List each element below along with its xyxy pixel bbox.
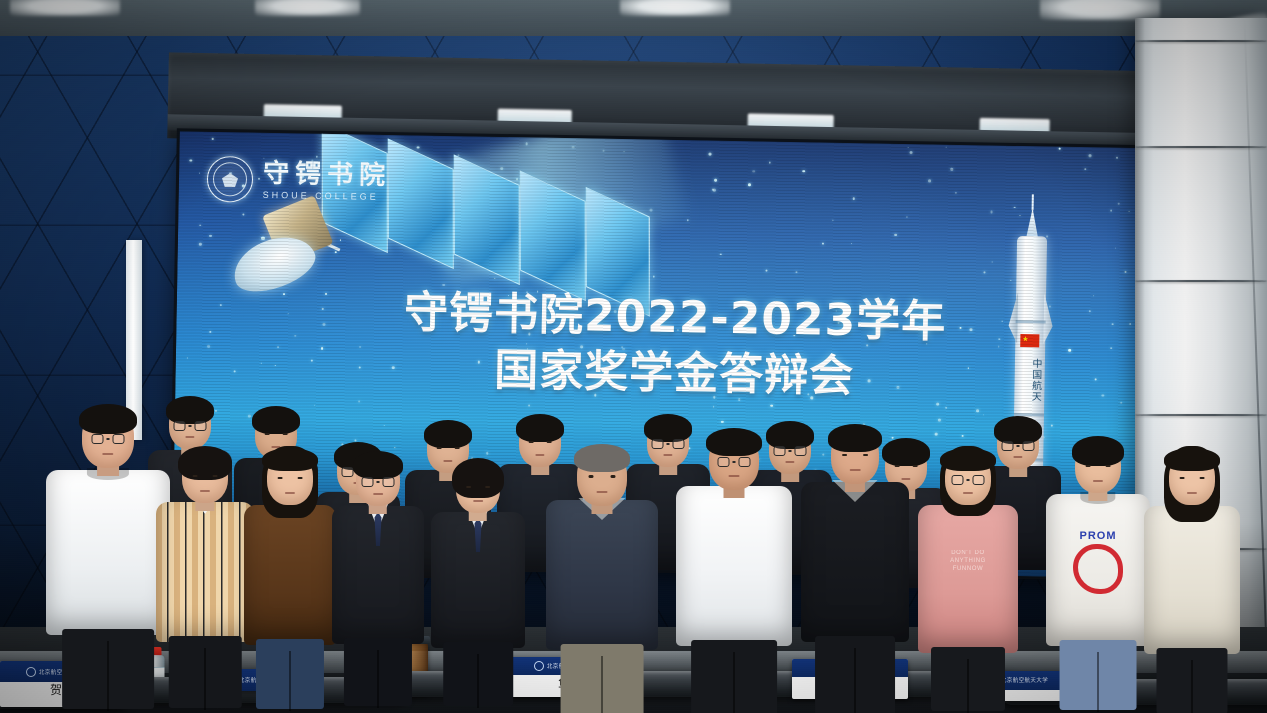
person-torso — [1144, 506, 1240, 654]
person-hair — [452, 458, 504, 498]
person — [1144, 438, 1240, 713]
ceiling-light — [1040, 0, 1160, 20]
person — [676, 418, 792, 713]
person — [801, 414, 909, 713]
photograph-canvas: ★ 中国航天 守锷书院 SHOUE COLLEGE 守锷书院2022-2023学… — [0, 0, 1267, 713]
person-torso — [918, 505, 1018, 653]
person: DON'T DO ANYTHING FUNNOW — [918, 438, 1018, 713]
leg-split — [967, 659, 969, 713]
person-hair — [252, 406, 300, 434]
glasses-bridge — [189, 425, 192, 426]
mouth — [102, 453, 113, 455]
ceiling-light — [255, 0, 360, 16]
glasses-bridge — [967, 479, 970, 480]
person-hair-front — [940, 448, 996, 471]
eyeglasses — [362, 477, 395, 487]
column-seam — [1135, 280, 1267, 282]
eyes — [589, 475, 616, 478]
glasses-bridge — [377, 481, 380, 482]
person — [46, 394, 170, 713]
lens-left — [362, 477, 374, 487]
person-hair — [166, 396, 214, 424]
person-hair — [828, 424, 882, 452]
leg-split — [477, 654, 479, 708]
mouth — [729, 475, 740, 477]
apparel-print: PROM — [1067, 530, 1129, 542]
eyes — [842, 454, 868, 457]
leg-split — [601, 656, 603, 713]
person-hair — [1072, 436, 1124, 466]
lens-right — [113, 434, 125, 444]
person — [332, 441, 424, 713]
university-seal-icon — [26, 667, 36, 677]
leg-split — [1191, 660, 1193, 713]
lens-left — [92, 434, 104, 444]
mouth — [535, 454, 544, 456]
lens-left — [952, 475, 964, 485]
glasses-bridge — [107, 438, 110, 439]
lens-left — [174, 421, 186, 431]
eyes — [1086, 465, 1111, 468]
mouth — [850, 469, 861, 471]
mouth — [597, 491, 608, 493]
person — [546, 434, 658, 713]
person-torso — [676, 486, 792, 646]
lens-right — [383, 477, 395, 487]
person-torso — [546, 500, 658, 650]
mouth — [1093, 480, 1103, 482]
person-hair — [424, 420, 472, 448]
eyeglasses — [174, 421, 207, 431]
person: PROM — [1046, 426, 1150, 713]
mouth — [200, 490, 210, 492]
eyeglasses — [952, 475, 985, 485]
person-torso — [244, 505, 336, 645]
person-hair — [706, 428, 762, 456]
lens-right — [739, 457, 751, 467]
apparel-print: DON'T DO ANYTHING FUNNOW — [935, 549, 1001, 573]
eyes — [193, 475, 218, 478]
person-torso — [46, 470, 170, 635]
person-hair-front — [1164, 448, 1220, 471]
column-seam — [1135, 40, 1267, 42]
mouth — [373, 493, 383, 495]
lens-right — [195, 421, 207, 431]
ceiling-light — [10, 0, 120, 16]
eyes — [1180, 477, 1205, 480]
glasses-bridge — [733, 461, 736, 462]
person-torso — [801, 482, 909, 642]
person — [431, 448, 525, 713]
leg-split — [377, 650, 379, 708]
leg-split — [1097, 652, 1099, 712]
glasses-bridge — [667, 443, 670, 444]
column-cable — [1243, 18, 1267, 678]
person-torso — [156, 502, 254, 642]
person-hair — [353, 451, 403, 479]
lens-right — [973, 475, 985, 485]
mouth — [963, 492, 973, 494]
person-hair — [79, 404, 137, 434]
eyes — [466, 486, 490, 489]
eyes — [278, 477, 303, 480]
person — [156, 436, 254, 713]
person-hair-front — [262, 448, 318, 471]
eyes — [265, 433, 288, 436]
leg-split — [854, 648, 856, 713]
column-seam — [1135, 414, 1267, 416]
leg-split — [107, 641, 109, 711]
leg-split — [289, 651, 291, 711]
person-hair — [574, 444, 630, 472]
mouth — [285, 492, 295, 494]
leg-split — [733, 652, 735, 713]
lens-left — [718, 457, 730, 467]
apparel-graphic — [1073, 544, 1123, 594]
lens-right — [1023, 441, 1035, 451]
mouth — [663, 454, 672, 456]
ceiling-light — [620, 0, 730, 16]
mouth — [473, 500, 483, 502]
leg-split — [204, 648, 206, 710]
person — [244, 438, 336, 713]
mouth — [1187, 492, 1197, 494]
eyeglasses — [718, 457, 751, 467]
eyeglasses — [92, 434, 125, 444]
